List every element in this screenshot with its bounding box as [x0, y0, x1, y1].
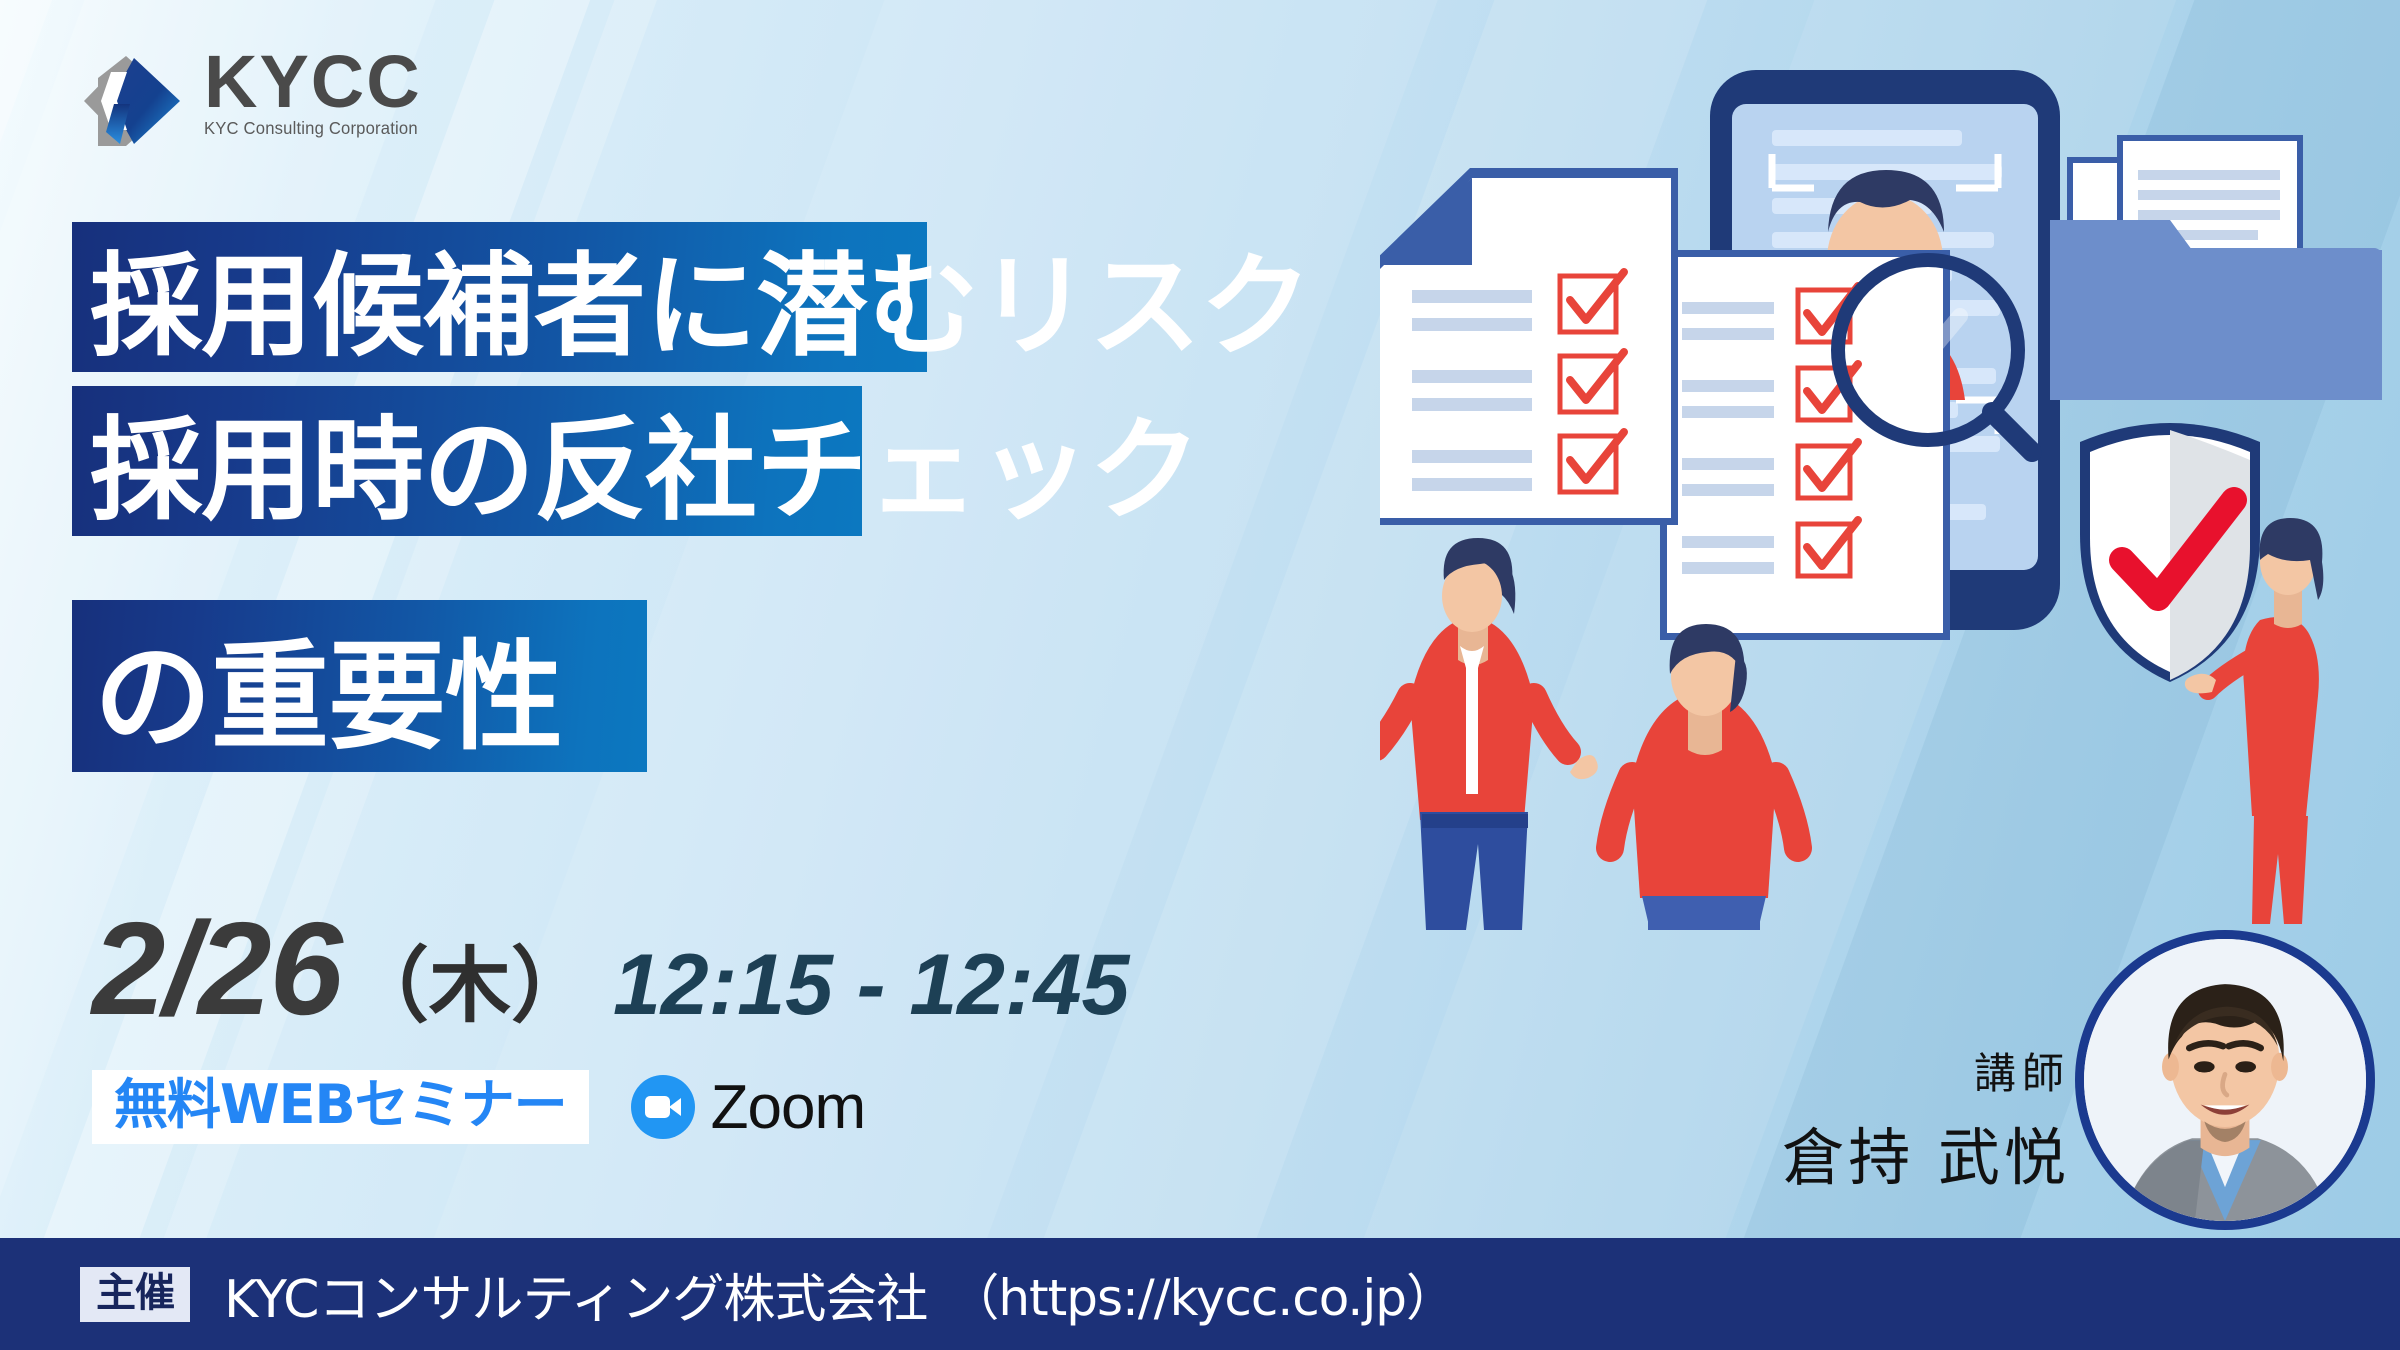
speaker-name: 倉持 武悦 — [1782, 1107, 2070, 1197]
kycc-diamond-arrow-icon — [80, 52, 192, 150]
speaker-label: 講師 — [1782, 1040, 2070, 1101]
title-line-3: の重要性 — [72, 600, 647, 772]
event-time: 12:15 - 12:45 — [613, 936, 1129, 1035]
speaker-avatar — [2075, 930, 2375, 1230]
hero-illustration — [1380, 60, 2400, 930]
kycc-logo: KYCC KYC Consulting Corporation — [80, 48, 429, 150]
title-line-1: 採用候補者に潜むリスク — [72, 222, 927, 372]
event-day-of-week: （木） — [347, 919, 593, 1038]
title-line-2: 採用時の反社チェック — [72, 386, 862, 536]
logo-tagline: KYC Consulting Corporation — [204, 118, 418, 139]
footer-bar: 主催 KYCコンサルティング株式会社 （https://kycc.co.jp） — [0, 1238, 2400, 1350]
free-webinar-badge: 無料WEBセミナー — [92, 1070, 589, 1144]
speaker-block: 講師 倉持 武悦 — [1782, 1040, 2070, 1197]
event-datetime: 2/26 （木） 12:15 - 12:45 — [92, 893, 1129, 1044]
title-line-2-text: 採用時の反社チェック — [90, 380, 1200, 542]
host-company-name: KYCコンサルティング株式会社 — [224, 1257, 927, 1332]
host-website-url[interactable]: （https://kycc.co.jp） — [949, 1258, 1455, 1330]
host-label-badge: 主催 — [80, 1267, 190, 1322]
zoom-camera-icon — [631, 1075, 695, 1139]
title-line-1-text: 採用候補者に潜むリスク — [90, 216, 1311, 378]
zoom-label: Zoom — [711, 1072, 865, 1143]
zoom-platform: Zoom — [631, 1072, 865, 1143]
logo-wordmark: KYCC — [204, 48, 429, 116]
event-date: 2/26 — [92, 893, 341, 1044]
webinar-info-row: 無料WEBセミナー Zoom — [92, 1070, 865, 1144]
title-line-3-text: の重要性 — [94, 601, 562, 772]
